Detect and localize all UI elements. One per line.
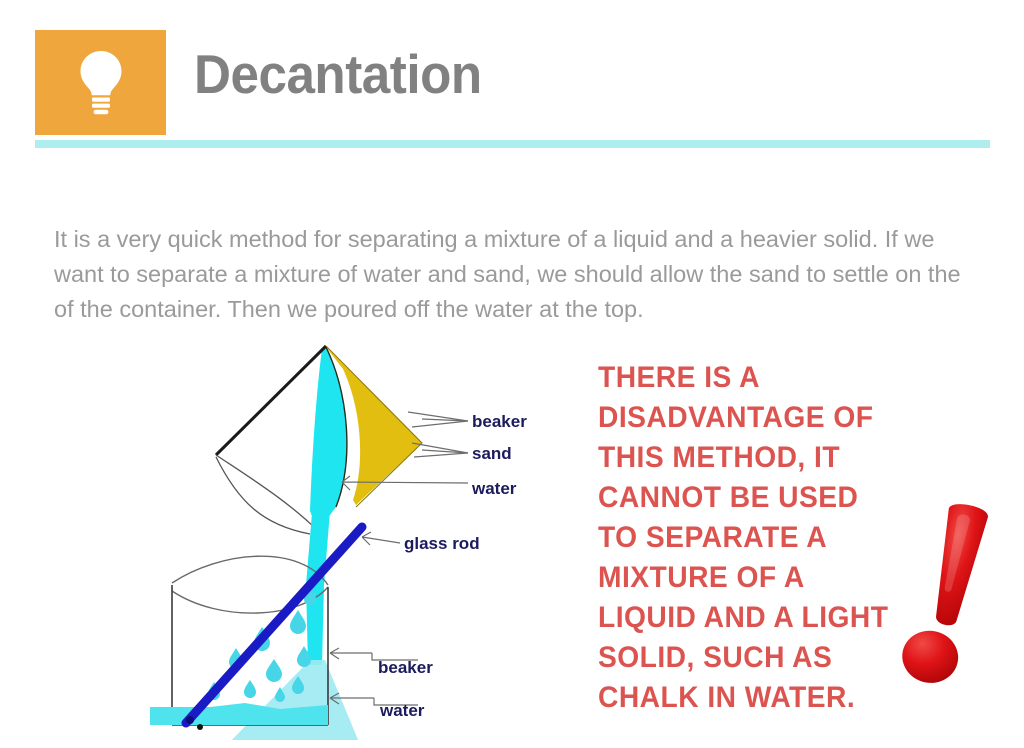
glass-rod-base-dot [197,724,203,730]
collected-water-base [150,711,328,725]
beaker-rim-edge [216,346,326,455]
intro-paragraph: It is a very quick method for separating… [54,222,979,327]
water-region [310,347,347,531]
label-glass-rod: glass rod [404,534,480,553]
lightbulb-icon-tile [35,30,166,135]
warning-message: There is a disadvantage of this method, … [598,358,889,718]
tilted-beaker-group [216,346,422,534]
beaker-body-outline [216,455,318,531]
leader-glass-rod [362,532,400,545]
exclamation-dot [898,626,963,688]
label-beaker-top: beaker [472,412,527,431]
glass-rod-tip [186,716,194,724]
label-water-top: water [471,479,517,498]
label-water-bottom: water [379,701,425,720]
title-divider [35,140,990,148]
page-title: Decantation [194,43,482,105]
lightbulb-icon [78,50,124,116]
label-beaker-bottom: beaker [378,658,433,677]
exclamation-mark-icon [893,497,1013,692]
beaker-base-outline [216,457,310,534]
decantation-diagram-svg: beaker sand water glass rod beaker water [150,335,580,740]
label-sand: sand [472,444,512,463]
leader-sand [412,443,468,457]
page-header: Decantation [0,0,1024,140]
lower-beaker-rim [172,556,328,585]
decantation-diagram: beaker sand water glass rod beaker water [150,335,580,740]
